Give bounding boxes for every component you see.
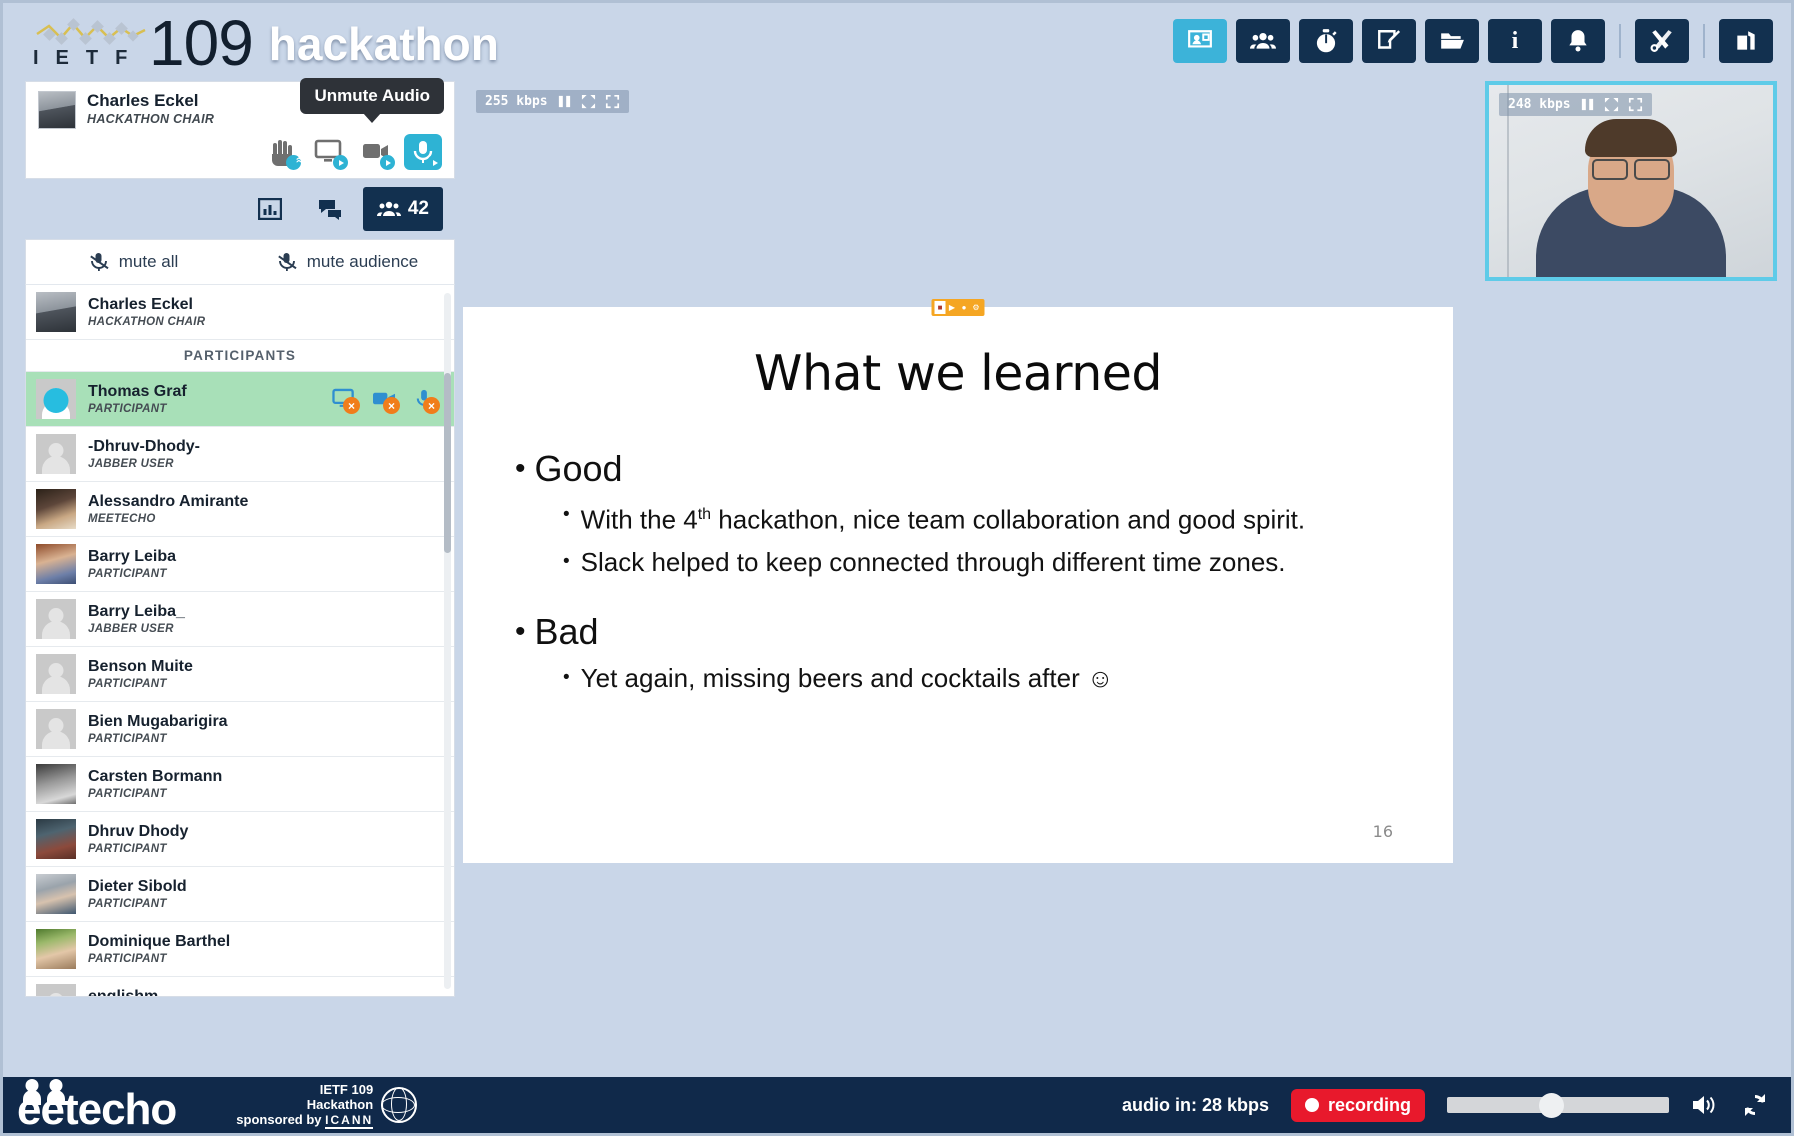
toolbar-presentation-button[interactable] xyxy=(1173,19,1227,63)
fullscreen-icon[interactable] xyxy=(1628,97,1643,112)
participant-name: Thomas Graf xyxy=(88,383,187,401)
sponsor-name: ICANN xyxy=(325,1113,373,1129)
toolbar-divider-2 xyxy=(1703,24,1705,58)
meetecho-logo: eetecho xyxy=(3,1077,176,1133)
avatar xyxy=(36,984,76,997)
chat-bubble-icon xyxy=(318,198,342,220)
participant-role: PARTICIPANT xyxy=(88,568,176,580)
toolbar-leave-button[interactable] xyxy=(1719,19,1773,63)
table-row[interactable]: Dieter Sibold PARTICIPANT xyxy=(26,867,454,922)
slide-mini-4: ⚙ xyxy=(971,301,982,314)
participant-role: JABBER USER xyxy=(88,623,185,635)
left-panel: Charles Eckel HACKATHON CHAIR Unmute Aud… xyxy=(25,81,455,1133)
slide-section-heading: • Good xyxy=(515,448,1397,490)
mute-all-label: mute all xyxy=(119,252,179,272)
refresh-icon xyxy=(1741,1092,1769,1118)
slide-body: • Good • With the 4th hackathon, nice te… xyxy=(463,402,1453,695)
participants-icon xyxy=(1250,28,1276,54)
bullet-glyph: • xyxy=(515,448,526,490)
header-toolbar: i xyxy=(1173,19,1773,63)
raise-hand-state-badge xyxy=(286,155,301,170)
sponsor-line-2: Hackathon xyxy=(236,1097,373,1112)
mute-controls: mute all mute audience xyxy=(25,239,455,285)
tab-chat[interactable] xyxy=(303,187,357,231)
participant-role: PARTICIPANT xyxy=(88,403,187,415)
row-actions: × × × xyxy=(330,386,444,412)
slide-bitrate: 255 kbps xyxy=(485,94,548,109)
participant-role: HACKATHON CHAIR xyxy=(88,316,205,328)
conference-number: 109 xyxy=(149,14,253,72)
mute-all-icon xyxy=(88,251,110,273)
table-row[interactable]: Dominique Barthel PARTICIPANT xyxy=(26,922,454,977)
raise-hand-button[interactable] xyxy=(263,134,301,170)
avatar xyxy=(36,544,76,584)
camera-state-badge xyxy=(380,155,395,170)
avatar xyxy=(36,489,76,529)
unmute-audio-tooltip: Unmute Audio xyxy=(300,78,444,114)
toolbar-info-button[interactable]: i xyxy=(1488,19,1542,63)
slide-title: What we learned xyxy=(463,345,1453,402)
participant-name: Alessandro Amirante xyxy=(88,493,248,511)
note-edit-icon xyxy=(1376,28,1402,54)
slide-thumbnail-strip: ■ ▶ ● ⚙ xyxy=(932,299,985,316)
exit-icon xyxy=(1733,28,1759,54)
participant-name: Dieter Sibold xyxy=(88,878,187,896)
audio-in-status: audio in: 28 kbps xyxy=(1122,1095,1269,1116)
toolbar-materials-button[interactable] xyxy=(1425,19,1479,63)
people-icon xyxy=(377,198,401,220)
mute-audience-button[interactable]: mute audience xyxy=(240,251,454,273)
participant-count: 42 xyxy=(408,198,429,220)
bullet-glyph: • xyxy=(563,661,570,695)
panel-tabs: 42 xyxy=(25,179,455,239)
ietf-logo-mark: IETF xyxy=(21,10,157,72)
camera-button[interactable] xyxy=(357,134,395,170)
bullet-text: Slack helped to keep connected through d… xyxy=(581,545,1286,579)
slide-page-number: 16 xyxy=(1373,822,1393,841)
screenshare-state-badge xyxy=(333,155,348,170)
disabled-badge: × xyxy=(383,397,400,414)
section-heading-text: Bad xyxy=(535,611,599,653)
app-header: IETF 109 hackathon i xyxy=(3,3,1791,78)
status-bar-controls: audio in: 28 kbps recording xyxy=(1122,1089,1791,1122)
participant-name: Carsten Bormann xyxy=(88,768,222,786)
table-row[interactable]: -Dhruv-Dhody- JABBER USER xyxy=(26,427,454,482)
avatar xyxy=(36,709,76,749)
slide-section-heading: • Bad xyxy=(515,611,1397,653)
status-bar: eetecho IETF 109 Hackathon sponsored by … xyxy=(3,1077,1791,1133)
meetecho-people-icon xyxy=(21,1081,77,1105)
slide-mini-2: ▶ xyxy=(947,301,958,314)
participant-list[interactable]: Charles Eckel HACKATHON CHAIR PARTICIPAN… xyxy=(25,285,455,997)
recording-dot-icon xyxy=(1305,1098,1319,1112)
tools-icon xyxy=(1649,28,1675,54)
microphone-state-badge xyxy=(427,155,442,170)
toolbar-notifications-button[interactable] xyxy=(1551,19,1605,63)
recording-label: recording xyxy=(1328,1095,1411,1116)
toolbar-notes-button[interactable] xyxy=(1362,19,1416,63)
disabled-badge: × xyxy=(423,397,440,414)
slide-viewer[interactable]: ■ ▶ ● ⚙ What we learned • Good • With th… xyxy=(463,307,1453,863)
table-row[interactable]: Bien Mugabarigira PARTICIPANT xyxy=(26,702,454,757)
participants-section-label: PARTICIPANTS xyxy=(26,340,454,372)
screenshare-toggle[interactable]: × xyxy=(330,386,358,412)
fullscreen-icon[interactable] xyxy=(605,94,620,109)
table-row[interactable]: Barry Leiba_ JABBER USER xyxy=(26,592,454,647)
volume-slider[interactable] xyxy=(1447,1096,1669,1114)
resize-icon[interactable] xyxy=(1604,97,1619,112)
mute-audience-label: mute audience xyxy=(307,252,419,272)
tab-participants[interactable]: 42 xyxy=(363,187,443,231)
participant-role: MEETECHO xyxy=(88,513,248,525)
participant-name: Barry Leiba xyxy=(88,548,176,566)
globe-icon xyxy=(381,1087,417,1123)
presenter-card: Charles Eckel HACKATHON CHAIR Unmute Aud… xyxy=(25,81,455,179)
event-name: hackathon xyxy=(269,16,499,72)
participant-role: PARTICIPANT xyxy=(88,953,230,965)
folder-open-icon xyxy=(1439,28,1465,54)
mute-all-button[interactable]: mute all xyxy=(26,251,240,273)
toolbar-tools-button[interactable] xyxy=(1635,19,1689,63)
meetecho-conference-app: IETF 109 hackathon i xyxy=(0,0,1794,1136)
slide-mini-3: ● xyxy=(959,301,970,314)
webcam-bitrate: 248 kbps xyxy=(1508,97,1571,112)
mute-audience-icon xyxy=(276,251,298,273)
webcam-stream-controls: 248 kbps xyxy=(1499,93,1652,116)
participant-name: Charles Eckel xyxy=(88,296,205,314)
presenter-avatar xyxy=(38,91,76,129)
scrollbar-thumb[interactable] xyxy=(444,373,451,553)
bullet-glyph: • xyxy=(515,611,526,653)
ietf-diamond-pattern-icon xyxy=(35,18,147,50)
volume-icon xyxy=(1691,1092,1719,1118)
table-row[interactable]: Carsten Bormann PARTICIPANT xyxy=(26,757,454,812)
slide-mini-1: ■ xyxy=(935,301,946,314)
avatar xyxy=(36,434,76,474)
participant-role: PARTICIPANT xyxy=(88,843,188,855)
microphone-button[interactable] xyxy=(404,134,442,170)
table-row[interactable]: englishm JABBER USER xyxy=(26,977,454,997)
avatar xyxy=(36,764,76,804)
avatar xyxy=(36,874,76,914)
avatar xyxy=(36,819,76,859)
presentation-icon xyxy=(1187,28,1213,54)
participant-list-scrollbar[interactable] xyxy=(444,293,451,989)
pause-icon[interactable] xyxy=(1580,97,1595,112)
avatar xyxy=(36,599,76,639)
tab-polls[interactable] xyxy=(243,187,297,231)
chart-bar-icon xyxy=(258,198,282,220)
recording-badge: recording xyxy=(1291,1089,1425,1122)
bell-icon xyxy=(1565,28,1591,54)
sponsor-line-1: IETF 109 xyxy=(236,1082,373,1097)
toolbar-participants-button[interactable] xyxy=(1236,19,1290,63)
slide-bullet: • With the 4th hackathon, nice team coll… xyxy=(563,498,1397,537)
screenshare-button[interactable] xyxy=(310,134,348,170)
webcam-feed[interactable]: 248 kbps xyxy=(1485,81,1777,281)
presenter-role: HACKATHON CHAIR xyxy=(87,112,214,126)
participant-role: PARTICIPANT xyxy=(88,733,228,745)
participant-name: Bien Mugabarigira xyxy=(88,713,228,731)
slide-stream-controls: 255 kbps xyxy=(476,90,629,113)
participant-role: PARTICIPANT xyxy=(88,678,193,690)
participant-role: JABBER USER xyxy=(88,458,200,470)
table-row[interactable]: Benson Muite PARTICIPANT xyxy=(26,647,454,702)
slide-bullet: • Slack helped to keep connected through… xyxy=(563,545,1397,579)
info-icon: i xyxy=(1512,28,1519,55)
avatar xyxy=(36,929,76,969)
participant-name: Barry Leiba_ xyxy=(88,603,185,621)
table-row[interactable]: Barry Leiba PARTICIPANT xyxy=(26,537,454,592)
disabled-badge: × xyxy=(343,397,360,414)
participant-name: Benson Muite xyxy=(88,658,193,676)
participant-name: Dhruv Dhody xyxy=(88,823,188,841)
avatar xyxy=(36,654,76,694)
volume-slider-knob[interactable] xyxy=(1539,1093,1564,1118)
volume-button[interactable] xyxy=(1691,1092,1719,1118)
sponsor-line-3: sponsored by ICANN xyxy=(236,1112,373,1128)
avatar xyxy=(36,292,76,332)
bullet-glyph: • xyxy=(563,498,570,532)
list-item-chair[interactable]: Charles Eckel HACKATHON CHAIR xyxy=(26,285,454,340)
participant-name: -Dhruv-Dhody- xyxy=(88,438,200,456)
participant-name: englishm xyxy=(88,988,174,997)
table-row[interactable]: Thomas Graf PARTICIPANT × × × xyxy=(26,372,454,427)
section-heading-text: Good xyxy=(535,448,623,490)
participant-role: PARTICIPANT xyxy=(88,898,187,910)
ietf-letters: IETF xyxy=(33,47,144,70)
participant-role: PARTICIPANT xyxy=(88,788,222,800)
ietf-brand: IETF 109 hackathon xyxy=(3,10,499,72)
microphone-toggle[interactable]: × xyxy=(410,386,438,412)
presenter-name: Charles Eckel xyxy=(87,91,214,110)
slide-bullet: • Yet again, missing beers and cocktails… xyxy=(563,661,1397,695)
presenter-actions xyxy=(263,134,442,170)
sponsor-block: IETF 109 Hackathon sponsored by ICANN xyxy=(236,1082,417,1128)
resize-icon[interactable] xyxy=(581,94,596,109)
bullet-glyph: • xyxy=(563,545,570,579)
bullet-text: With the 4th hackathon, nice team collab… xyxy=(581,498,1305,537)
table-row[interactable]: Alessandro Amirante MEETECHO xyxy=(26,482,454,537)
toolbar-timer-button[interactable] xyxy=(1299,19,1353,63)
table-row[interactable]: Dhruv Dhody PARTICIPANT xyxy=(26,812,454,867)
toolbar-divider-1 xyxy=(1619,24,1621,58)
bullet-text: Yet again, missing beers and cocktails a… xyxy=(581,661,1114,695)
pause-icon[interactable] xyxy=(557,94,572,109)
camera-toggle[interactable]: × xyxy=(370,386,398,412)
avatar xyxy=(36,379,76,419)
participant-name: Dominique Barthel xyxy=(88,933,230,951)
reconnect-button[interactable] xyxy=(1741,1092,1769,1118)
timer-icon xyxy=(1313,28,1339,54)
